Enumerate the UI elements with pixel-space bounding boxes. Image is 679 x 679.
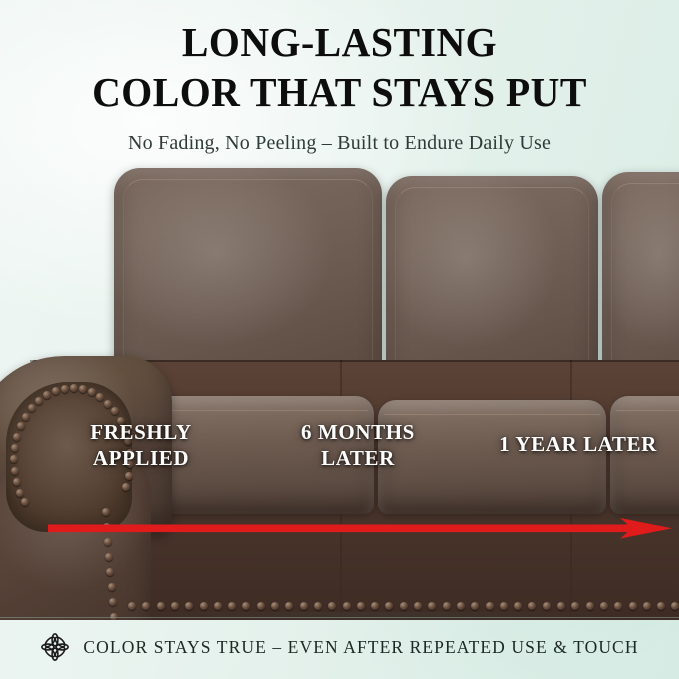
nailhead-stud	[586, 602, 594, 610]
nailhead-stud	[557, 602, 565, 610]
nailhead-stud	[343, 602, 351, 610]
nailhead-stud	[70, 384, 78, 392]
nailhead-stud	[22, 413, 30, 421]
nailhead-stud	[11, 467, 19, 475]
footer-caption: COLOR STAYS TRUE – EVEN AFTER REPEATED U…	[83, 637, 638, 658]
nailhead-stud	[157, 602, 165, 610]
nailhead-stud	[300, 602, 308, 610]
nailhead-stud	[35, 397, 43, 405]
flower-icon	[40, 632, 70, 662]
headline-line-1: LONG-LASTING	[10, 0, 669, 63]
poster-canvas: LONG-LASTING COLOR THAT STAYS PUT No Fad…	[0, 0, 679, 679]
nailhead-stud	[671, 602, 679, 610]
timeline-label-1-year-later: 1 YEAR LATER	[488, 432, 668, 458]
nailhead-stud	[400, 602, 408, 610]
nailhead-stud	[61, 385, 69, 393]
nailhead-stud	[271, 602, 279, 610]
nailhead-stud	[52, 387, 60, 395]
nailhead-stud	[414, 602, 422, 610]
nailhead-stud	[28, 404, 36, 412]
headline-line-2: COLOR THAT STAYS PUT	[10, 63, 669, 113]
nailhead-stud	[17, 422, 25, 430]
nailhead-stud	[486, 602, 494, 610]
nailhead-stud	[108, 583, 116, 591]
nailhead-stud	[102, 508, 110, 516]
nailhead-stud	[109, 598, 117, 606]
right-arrow-icon	[48, 516, 672, 540]
nailhead-stud	[43, 391, 51, 399]
nailhead-stud	[171, 602, 179, 610]
footer-block: COLOR STAYS TRUE – EVEN AFTER REPEATED U…	[0, 617, 679, 679]
nailhead-stud	[122, 483, 130, 491]
nailhead-stud	[214, 602, 222, 610]
timeline-label-freshly-applied: FRESHLY APPLIED	[66, 420, 216, 471]
nailhead-stud	[500, 602, 508, 610]
subheadline: No Fading, No Peeling – Built to Endure …	[0, 113, 679, 155]
nailhead-stud	[128, 602, 136, 610]
nailhead-stud	[629, 602, 637, 610]
nailhead-stud	[257, 602, 265, 610]
product-photo	[0, 160, 679, 620]
nailhead-stud	[600, 602, 608, 610]
footer-divider	[0, 617, 679, 618]
header-block: LONG-LASTING COLOR THAT STAYS PUT No Fad…	[0, 0, 679, 168]
nailhead-stud	[457, 602, 465, 610]
timeline-label-6-months-later: 6 MONTHS LATER	[278, 420, 438, 471]
nailhead-stud	[543, 602, 551, 610]
nailhead-stud	[11, 444, 19, 452]
nailhead-stud	[16, 489, 24, 497]
nailhead-stud	[13, 478, 21, 486]
timeline-arrow	[48, 516, 672, 540]
nailhead-stud	[104, 400, 112, 408]
nailhead-stud	[357, 602, 365, 610]
nailhead-stud	[314, 602, 322, 610]
nailhead-stud	[200, 602, 208, 610]
nailhead-stud	[13, 433, 21, 441]
nailhead-stud	[643, 602, 651, 610]
nailhead-stud	[125, 472, 133, 480]
nailhead-stud	[443, 602, 451, 610]
